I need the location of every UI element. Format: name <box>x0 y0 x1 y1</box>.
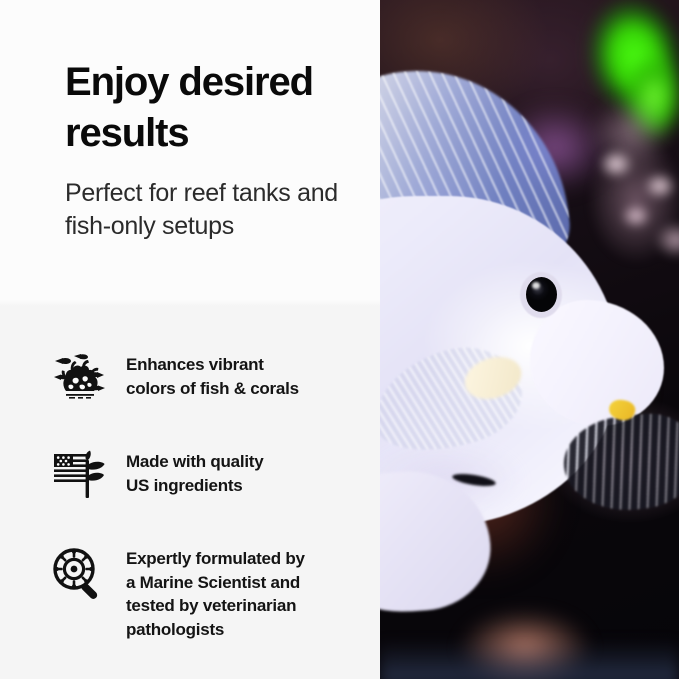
feature-list: Enhances vibrant colors of fish & corals <box>0 352 380 687</box>
list-item: Enhances vibrant colors of fish & corals <box>0 352 380 401</box>
pink-branching-coral <box>576 120 679 280</box>
list-item-label: Enhances vibrant colors of fish & corals <box>126 352 299 400</box>
list-item: Made with quality US ingredients <box>0 449 380 500</box>
coral-reef-fish-icon <box>52 352 126 401</box>
list-item-label: Expertly formulated by a Marine Scientis… <box>126 546 305 641</box>
product-photo <box>380 0 679 679</box>
page-title: Enjoy desired results <box>65 57 370 159</box>
bottom-blue-glow <box>380 640 679 679</box>
fish-eye <box>526 277 557 312</box>
list-item: Expertly formulated by a Marine Scientis… <box>0 546 380 641</box>
page-subtitle: Perfect for reef tanks and fish-only set… <box>65 177 365 243</box>
magnifier-microbe-icon <box>52 546 126 601</box>
fish-eye-highlight <box>532 282 540 289</box>
list-item-label: Made with quality US ingredients <box>126 449 263 497</box>
product-feature-banner: Enjoy desired results Perfect for reef t… <box>0 0 679 679</box>
us-flag-plant-icon <box>52 449 126 500</box>
left-content-panel: Enjoy desired results Perfect for reef t… <box>0 0 380 679</box>
